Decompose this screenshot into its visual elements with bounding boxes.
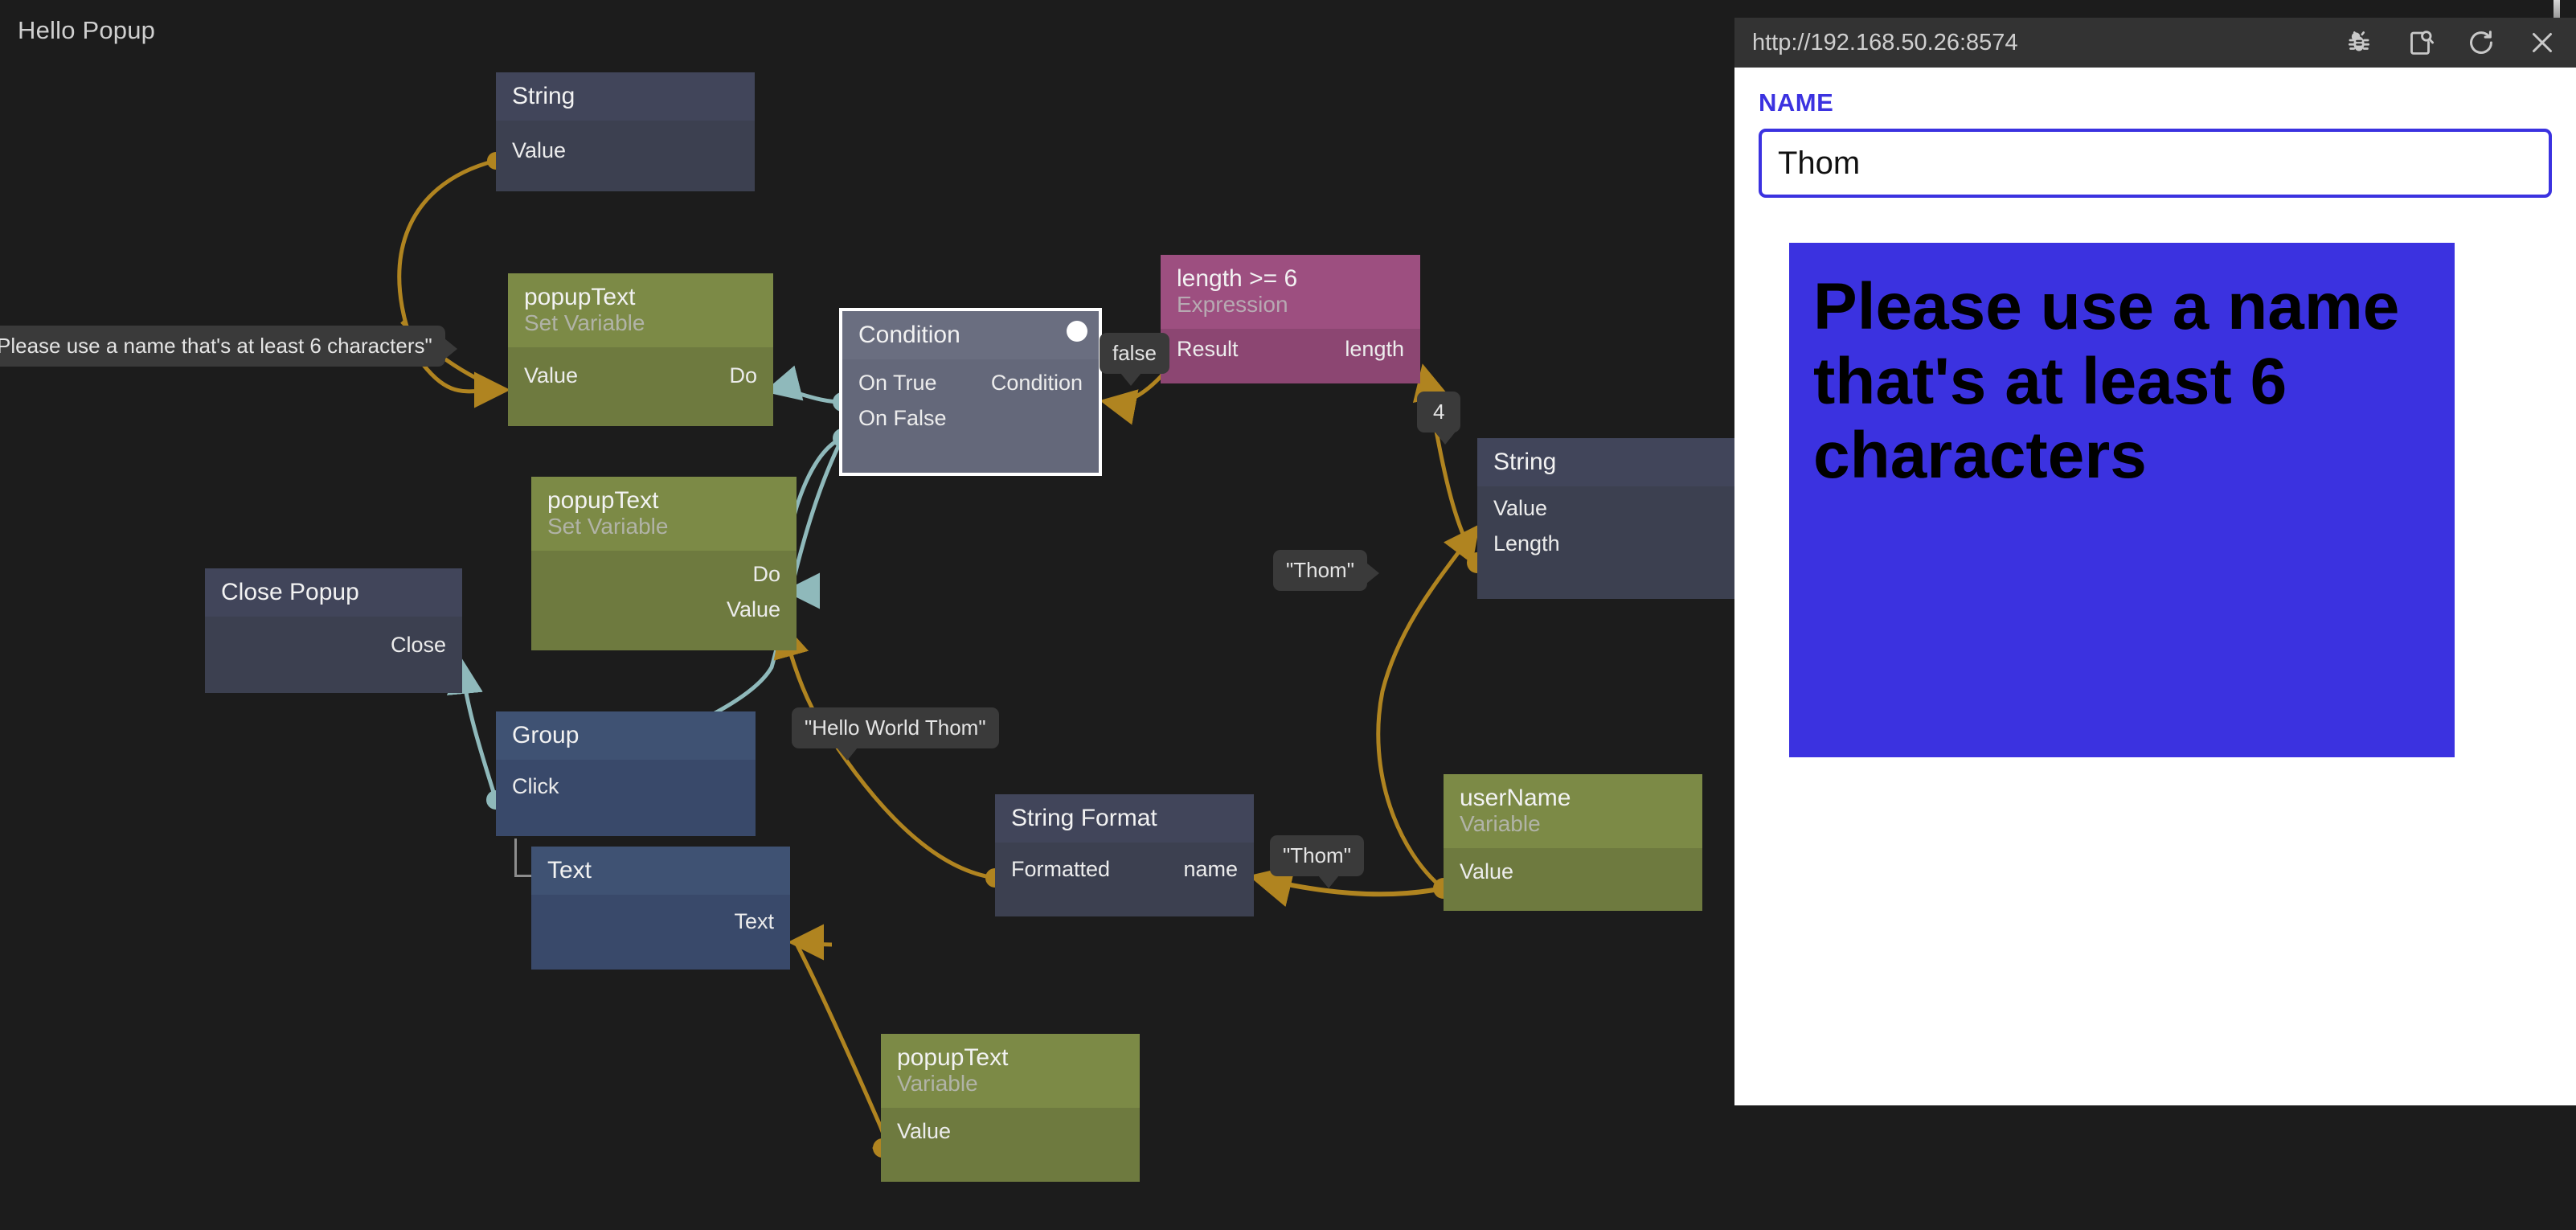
node-header: userName Variable — [1444, 774, 1702, 848]
bug-icon[interactable] — [2343, 27, 2375, 59]
node-body: Text — [531, 895, 790, 970]
node-body: Value Length — [1477, 486, 1734, 599]
port-do[interactable]: Do — [729, 363, 757, 388]
text-caret — [2553, 0, 2560, 18]
node-header: String — [1477, 438, 1734, 486]
node-header: Group — [496, 711, 756, 760]
port-length[interactable]: length — [1345, 337, 1404, 362]
reload-icon[interactable] — [2465, 27, 2497, 59]
node-header: popupText Set Variable — [531, 477, 797, 551]
node-body: Value — [1444, 848, 1702, 911]
node-username[interactable]: userName Variable Value — [1444, 774, 1702, 911]
node-body: Value — [496, 121, 755, 191]
node-title: String Format — [1011, 806, 1238, 831]
port-condition-out[interactable]: Condition — [991, 371, 1083, 396]
node-title: String — [512, 84, 739, 109]
bubble-thom-upper: "Thom" — [1273, 550, 1367, 591]
node-header: String Format — [995, 794, 1254, 843]
port-value[interactable]: Value — [512, 138, 566, 163]
bubble-text: "Thom" — [1283, 843, 1351, 867]
bubble-tail — [1120, 373, 1141, 386]
node-title: Text — [547, 858, 774, 884]
node-body: Do Value — [531, 551, 797, 650]
bubble-text: Please use a name that's at least 6 char… — [0, 334, 432, 358]
bubble-tail — [837, 748, 858, 761]
node-condition[interactable]: Condition On True On False Condition — [839, 308, 1102, 476]
node-subtitle: Variable — [1460, 811, 1686, 836]
port-length[interactable]: Length — [1493, 531, 1560, 556]
bubble-false: false — [1100, 333, 1169, 374]
node-body: Value Do — [508, 347, 773, 426]
port-result[interactable]: Result — [1177, 337, 1239, 362]
bubble-length-4: 4 — [1417, 392, 1460, 433]
node-body: Value — [881, 1108, 1140, 1182]
port-value[interactable]: Value — [1493, 496, 1547, 521]
bubble-hello-world: "Hello World Thom" — [792, 707, 999, 748]
node-group[interactable]: Group Click — [496, 711, 756, 836]
node-title: String — [1493, 449, 1726, 475]
browser-content: NAME Please use a name that's at least 6… — [1734, 68, 2576, 1105]
inspect-icon[interactable] — [2404, 27, 2436, 59]
node-body: On True On False Condition — [842, 359, 1099, 473]
node-popuptext-set-2[interactable]: popupText Set Variable Do Value — [531, 477, 797, 650]
port-close[interactable]: Close — [391, 633, 446, 658]
app-root: Hello Popup — [0, 0, 2576, 1230]
port-click[interactable]: Click — [512, 774, 559, 799]
port-value[interactable]: Value — [727, 597, 780, 622]
browser-toolbar-actions — [2343, 27, 2558, 59]
node-expression[interactable]: length >= 6 Expression Result length — [1161, 255, 1420, 383]
node-subtitle: Set Variable — [524, 310, 757, 335]
node-string-right[interactable]: String Value Length — [1477, 438, 1734, 599]
node-body: Close — [205, 617, 462, 693]
bubble-tail — [444, 338, 457, 359]
node-body: Formatted name — [995, 843, 1254, 916]
node-close-popup[interactable]: Close Popup Close — [205, 568, 462, 693]
node-subtitle: Set Variable — [547, 514, 780, 539]
node-string-format[interactable]: String Format Formatted name — [995, 794, 1254, 916]
bubble-text: "Thom" — [1286, 558, 1354, 582]
close-icon[interactable] — [2526, 27, 2558, 59]
bubble-tail — [1435, 432, 1456, 445]
node-header: String — [496, 72, 755, 121]
selection-indicator-dot — [1067, 321, 1087, 342]
node-header: popupText Variable — [881, 1034, 1140, 1108]
bubble-text: "Hello World Thom" — [805, 715, 986, 740]
node-string-top[interactable]: String Value — [496, 72, 755, 191]
bubble-text: 4 — [1433, 400, 1444, 424]
node-header: Close Popup — [205, 568, 462, 617]
name-input[interactable] — [1759, 129, 2552, 198]
node-text[interactable]: Text Text — [531, 847, 790, 970]
browser-toolbar: http://192.168.50.26:8574 — [1734, 18, 2576, 68]
node-subtitle: Expression — [1177, 292, 1404, 317]
port-do[interactable]: Do — [752, 562, 780, 587]
port-formatted[interactable]: Formatted — [1011, 857, 1110, 882]
node-title: Close Popup — [221, 580, 446, 605]
bubble-popup-message: Please use a name that's at least 6 char… — [0, 326, 445, 367]
node-title: length >= 6 — [1177, 266, 1404, 292]
node-header: popupText Set Variable — [508, 273, 773, 347]
bubble-text: false — [1112, 341, 1157, 365]
popup-message-box: Please use a name that's at least 6 char… — [1789, 243, 2455, 757]
node-subtitle: Variable — [897, 1071, 1124, 1096]
node-header: length >= 6 Expression — [1161, 255, 1420, 329]
browser-panel: http://192.168.50.26:8574 — [1734, 0, 2576, 1230]
node-title: Condition — [858, 322, 1083, 348]
port-name[interactable]: name — [1183, 857, 1238, 882]
node-body: Result length — [1161, 329, 1420, 383]
port-on-true[interactable]: On True — [858, 371, 937, 396]
port-value[interactable]: Value — [524, 363, 578, 388]
bubble-thom-lower: "Thom" — [1270, 835, 1364, 876]
node-header: Text — [531, 847, 790, 895]
node-title: popupText — [524, 285, 757, 310]
node-header: Condition — [842, 311, 1099, 359]
port-on-false[interactable]: On False — [858, 406, 947, 431]
name-field-label: NAME — [1759, 88, 2552, 117]
bubble-tail — [1318, 875, 1339, 888]
node-body: Click — [496, 760, 756, 836]
node-popuptext-set-1[interactable]: popupText Set Variable Value Do — [508, 273, 773, 426]
port-text[interactable]: Text — [734, 909, 774, 934]
port-value[interactable]: Value — [897, 1119, 951, 1144]
url-bar[interactable]: http://192.168.50.26:8574 — [1752, 30, 2343, 56]
node-title: popupText — [547, 488, 780, 514]
node-title: Group — [512, 723, 739, 748]
bubble-tail — [1366, 563, 1379, 584]
node-title: userName — [1460, 785, 1686, 811]
node-title: popupText — [897, 1045, 1124, 1071]
port-value[interactable]: Value — [1460, 859, 1513, 884]
node-popuptext-variable[interactable]: popupText Variable Value — [881, 1034, 1140, 1182]
page-title: Hello Popup — [18, 16, 155, 45]
node-graph-canvas[interactable]: Hello Popup — [0, 0, 1734, 1230]
